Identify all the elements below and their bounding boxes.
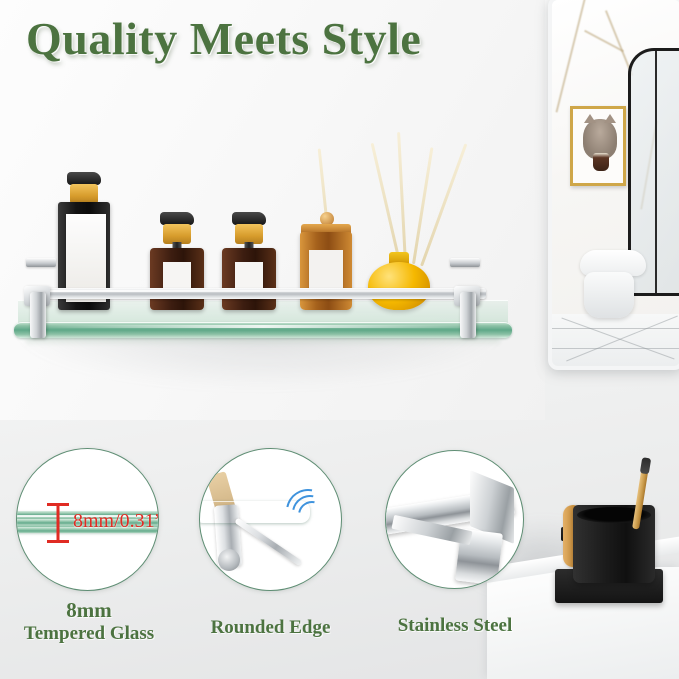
thickness-marker-icon <box>47 503 69 543</box>
feature-callouts: 8mm/0.31” 8mm Tempered Glass Rounded Edg… <box>0 430 679 679</box>
feature-label-line2: Tempered Glass <box>16 623 162 644</box>
feature-label-tempered-glass: 8mm Tempered Glass <box>16 599 162 644</box>
diffuser-bulb <box>368 262 430 310</box>
feature-rounded-edge: Rounded Edge <box>199 448 342 638</box>
bracket-clip <box>26 258 56 267</box>
glass-thickness-closeup: 8mm/0.31” <box>16 448 159 591</box>
stainless-steel-guard-rail <box>34 288 486 299</box>
bracket-arm <box>460 292 476 338</box>
feature-stainless-steel: Stainless Steel <box>385 450 525 636</box>
white-smart-toilet <box>574 250 646 318</box>
feature-label-stainless-steel: Stainless Steel <box>385 615 525 636</box>
tile-grout-line <box>552 328 679 329</box>
steel-post-cap <box>218 549 240 571</box>
product-marketing-image: Quality Meets Style 8mm/0.31” 8mm Temper… <box>0 0 679 679</box>
feature-label-rounded-edge: Rounded Edge <box>199 617 342 638</box>
feature-tempered-glass: 8mm/0.31” 8mm Tempered Glass <box>16 448 162 644</box>
feature-label-line1: Rounded Edge <box>199 617 342 638</box>
feature-label-line1: 8mm <box>16 599 162 623</box>
gold-framed-cat-artwork <box>570 106 626 186</box>
feature-label-line1: Stainless Steel <box>385 615 525 636</box>
rounded-edge-closeup <box>199 448 342 591</box>
cat-coffee-cup <box>593 153 609 171</box>
page-title: Quality Meets Style <box>26 12 421 65</box>
toilet-bowl <box>584 272 634 318</box>
bottle-collar <box>70 184 98 204</box>
bracket-arm <box>30 292 46 338</box>
ibeam-stem <box>57 503 60 543</box>
yellow-reed-diffuser <box>368 252 430 310</box>
wall-mirror-reflection <box>548 0 679 370</box>
ibeam-bottom-cap <box>47 540 69 543</box>
tiled-floor <box>552 314 679 366</box>
stainless-steel-closeup <box>385 450 524 589</box>
tile-grout-line <box>552 348 679 349</box>
bottle-collar <box>163 224 191 244</box>
glass-underside <box>26 336 500 346</box>
thickness-dimension-label: 8mm/0.31” <box>73 510 159 533</box>
bracket-clip <box>450 258 480 267</box>
bottle-collar <box>235 224 263 244</box>
